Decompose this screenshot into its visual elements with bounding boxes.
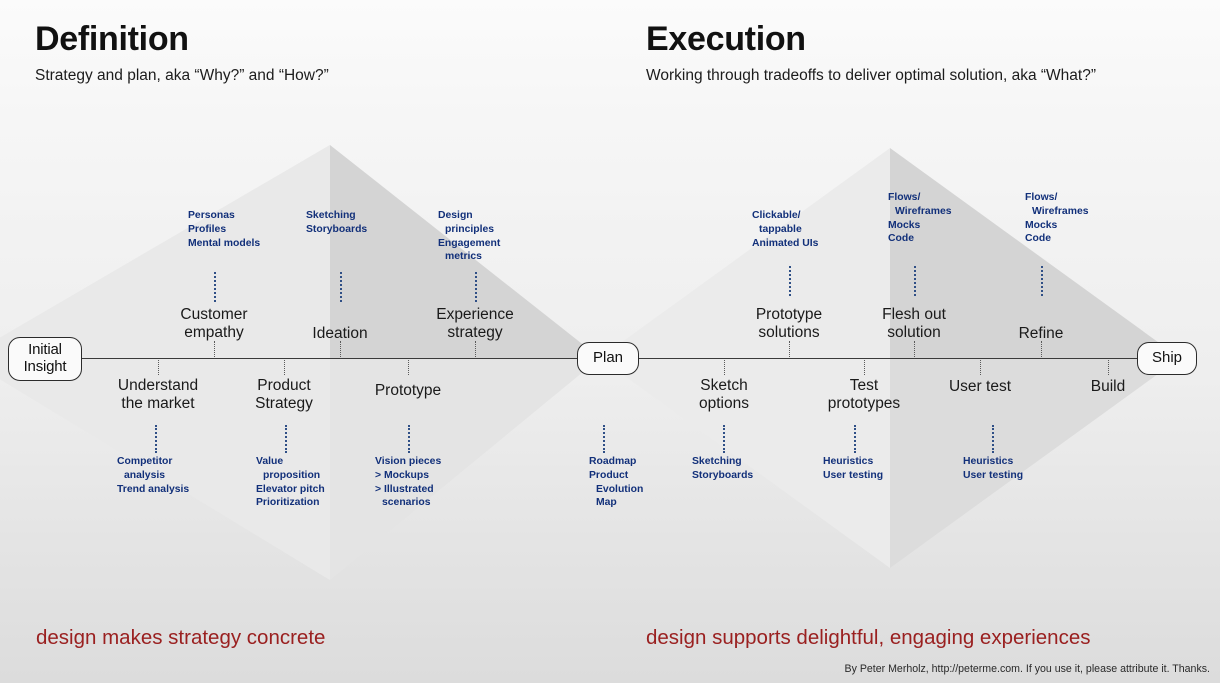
connector-test-prototypes-lower bbox=[854, 425, 856, 453]
connector-understand-market-axis bbox=[158, 360, 159, 375]
connector-user-test-lower bbox=[992, 425, 994, 453]
phase-title-execution: Execution bbox=[646, 22, 1096, 56]
diamond-left-inner-bottom bbox=[330, 358, 600, 580]
connector-sketch-options-axis bbox=[724, 360, 725, 375]
stage-user-test: User test bbox=[949, 378, 1011, 396]
phase-header-definition: Definition Strategy and plan, aka “Why?”… bbox=[35, 22, 329, 86]
connector-experience-strategy-upper bbox=[475, 272, 477, 302]
connector-customer-empathy-axis bbox=[214, 341, 215, 357]
stage-product-strategy: ProductStrategy bbox=[255, 377, 313, 412]
detail-prototype-solutions: Clickable/ tappable Animated UIs bbox=[752, 209, 818, 250]
stage-sketch-options: Sketchoptions bbox=[699, 377, 749, 412]
stage-refine: Refine bbox=[1019, 325, 1064, 343]
detail-ideation: Sketching Storyboards bbox=[306, 209, 367, 237]
stage-prototype-solutions: Prototypesolutions bbox=[756, 306, 822, 341]
connector-flesh-out-solution-upper bbox=[914, 266, 916, 296]
connector-product-strategy-lower bbox=[285, 425, 287, 453]
detail-customer-empathy: Personas Profiles Mental models bbox=[188, 209, 260, 250]
stage-understand-the-market: Understandthe market bbox=[118, 377, 198, 412]
detail-plan: Roadmap Product Evolution Map bbox=[589, 455, 643, 510]
connector-build-axis bbox=[1108, 360, 1109, 375]
detail-prototype: Vision pieces > Mockups > Illustrated sc… bbox=[375, 455, 441, 510]
connector-prototype-lower bbox=[408, 425, 410, 453]
phase-header-execution: Execution Working through tradeoffs to d… bbox=[646, 22, 1096, 86]
connector-sketch-options-lower bbox=[723, 425, 725, 453]
connector-prototype-solutions-axis bbox=[789, 341, 790, 357]
connector-experience-strategy-axis bbox=[475, 341, 476, 357]
stage-customer-empathy: Customerempathy bbox=[180, 306, 247, 341]
connector-user-test-axis bbox=[980, 360, 981, 375]
stage-ideation: Ideation bbox=[312, 325, 367, 343]
phase-title-definition: Definition bbox=[35, 22, 329, 56]
connector-product-strategy-axis bbox=[284, 360, 285, 375]
milestone-initial-insight-label: InitialInsight bbox=[24, 342, 67, 376]
detail-refine: Flows/ Wireframes Mocks Code bbox=[1025, 191, 1089, 246]
diamond-right-outer-top bbox=[600, 148, 890, 358]
detail-understand-the-market: Competitor analysis Trend analysis bbox=[117, 455, 189, 496]
stage-test-prototypes: Testprototypes bbox=[828, 377, 900, 412]
tagline-definition: design makes strategy concrete bbox=[36, 627, 325, 650]
milestone-ship[interactable]: Ship bbox=[1137, 342, 1197, 375]
connector-plan-lower bbox=[603, 425, 605, 453]
stage-prototype: Prototype bbox=[375, 382, 441, 400]
connector-test-prototypes-axis bbox=[864, 360, 865, 375]
detail-test-prototypes: Heuristics User testing bbox=[823, 455, 883, 483]
connector-flesh-out-solution-axis bbox=[914, 341, 915, 357]
milestone-initial-insight[interactable]: InitialInsight bbox=[8, 337, 82, 381]
connector-ideation-upper bbox=[340, 272, 342, 302]
detail-flesh-out-solution: Flows/ Wireframes Mocks Code bbox=[888, 191, 952, 246]
phase-subtitle-definition: Strategy and plan, aka “Why?” and “How?” bbox=[35, 67, 329, 86]
detail-product-strategy: Value proposition Elevator pitch Priorit… bbox=[256, 455, 325, 510]
connector-ideation-axis bbox=[340, 341, 341, 357]
detail-experience-strategy: Design principles Engagement metrics bbox=[438, 209, 500, 264]
stage-flesh-out-solution: Flesh outsolution bbox=[882, 306, 946, 341]
detail-sketch-options: Sketching Storyboards bbox=[692, 455, 753, 483]
milestone-ship-label: Ship bbox=[1152, 350, 1182, 367]
tagline-execution: design supports delightful, engaging exp… bbox=[646, 627, 1090, 650]
diagram-canvas: Definition Strategy and plan, aka “Why?”… bbox=[0, 0, 1220, 683]
connector-prototype-solutions-upper bbox=[789, 266, 791, 296]
connector-understand-market-lower bbox=[155, 425, 157, 453]
milestone-plan-label: Plan bbox=[593, 350, 623, 367]
connector-refine-upper bbox=[1041, 266, 1043, 296]
diamond-right-inner-bottom bbox=[890, 358, 1180, 568]
stage-experience-strategy: Experiencestrategy bbox=[436, 306, 514, 341]
milestone-plan[interactable]: Plan bbox=[577, 342, 639, 375]
stage-build: Build bbox=[1091, 378, 1125, 396]
connector-refine-axis bbox=[1041, 341, 1042, 357]
phase-subtitle-execution: Working through tradeoffs to deliver opt… bbox=[646, 67, 1096, 86]
connector-customer-empathy-upper bbox=[214, 272, 216, 302]
detail-user-test: Heuristics User testing bbox=[963, 455, 1023, 483]
attribution-text: By Peter Merholz, http://peterme.com. If… bbox=[845, 663, 1210, 675]
connector-prototype-axis bbox=[408, 360, 409, 375]
